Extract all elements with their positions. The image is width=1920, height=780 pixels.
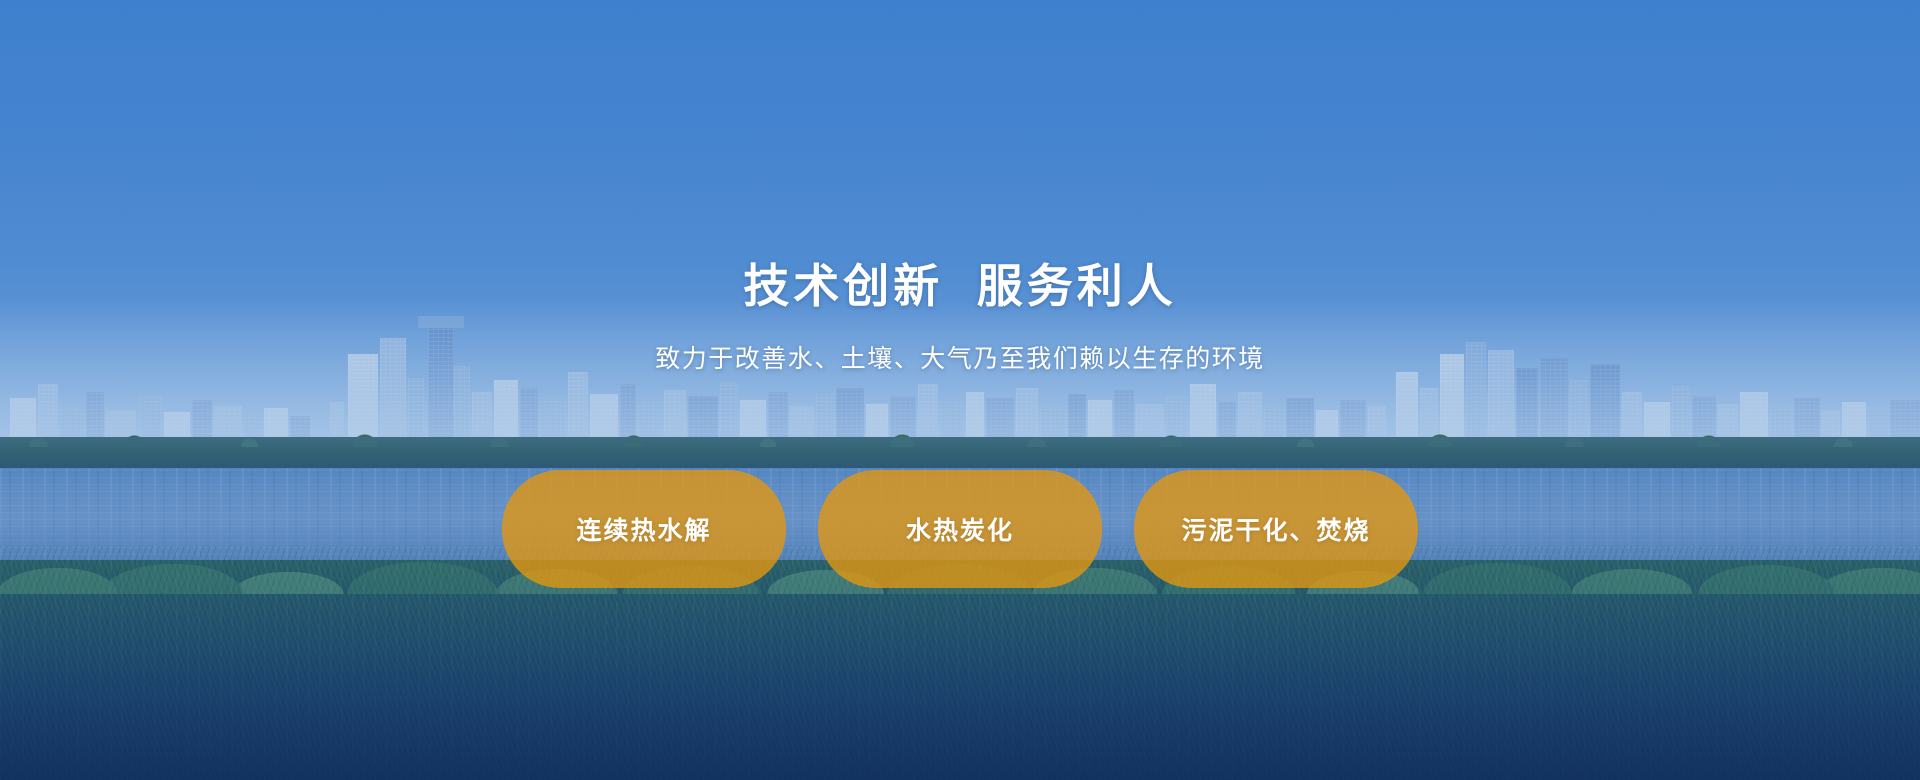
category-button-row: 连续热水解 水热炭化 污泥干化、焚烧: [0, 470, 1920, 588]
category-button-label: 水热炭化: [906, 511, 1014, 547]
page-title: 技术创新 服务利人: [0, 258, 1920, 314]
category-button-hydrothermal-carbonization[interactable]: 水热炭化: [818, 470, 1102, 588]
page-subtitle: 致力于改善水、土壤、大气乃至我们赖以生存的环境: [0, 343, 1920, 377]
hero-content: 技术创新 服务利人 致力于改善水、土壤、大气乃至我们赖以生存的环境 连续热水解 …: [0, 0, 1920, 780]
hero-banner: 技术创新 服务利人 致力于改善水、土壤、大气乃至我们赖以生存的环境 连续热水解 …: [0, 0, 1920, 780]
category-button-label: 污泥干化、焚烧: [1181, 511, 1370, 547]
category-button-sludge-drying-incineration[interactable]: 污泥干化、焚烧: [1134, 470, 1418, 588]
category-button-thermal-hydrolysis[interactable]: 连续热水解: [502, 470, 786, 588]
category-button-label: 连续热水解: [576, 511, 711, 547]
